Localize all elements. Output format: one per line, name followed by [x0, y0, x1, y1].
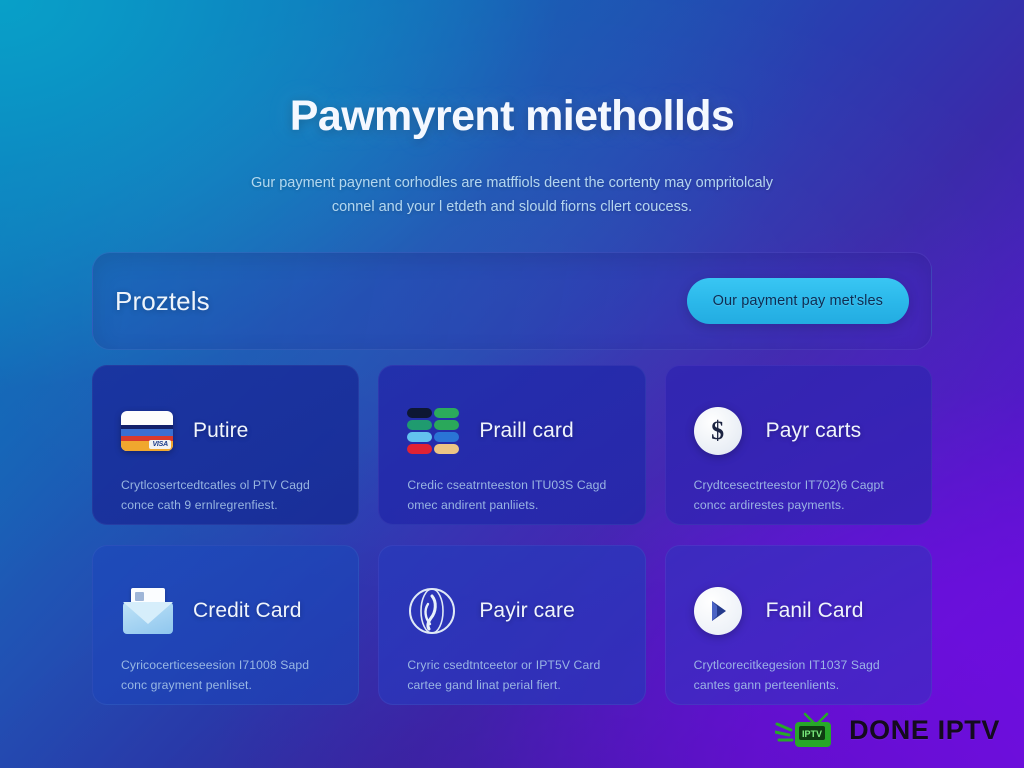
card-title: Putire: [193, 419, 248, 443]
page-subtitle-line-2: connel and your l etdeth and slould fior…: [192, 196, 832, 219]
tv-screen-label: IPTV: [802, 729, 822, 739]
card-description-line-2: omec andirent panliiets.: [407, 496, 622, 516]
tv-icon: IPTV: [775, 710, 839, 750]
card-description-line-1: Cryric csedtntceetor or IPT5V Card: [407, 656, 622, 676]
payment-methods-button[interactable]: Our payment pay met'sles: [687, 278, 909, 324]
card-description: Credic cseatrnteeston ITU03S Cagd omec a…: [407, 476, 622, 516]
globe-icon: [407, 584, 463, 638]
payment-methods-grid: VISA Putire Crytlcosertcedtcatles ol PTV…: [92, 365, 932, 705]
card-description: Crytlcorecitkegesion IT1037 Sagd cantes …: [694, 656, 909, 696]
panel-title: Proztels: [115, 286, 210, 317]
card-description-line-2: conce cath 9 ernlregrenfiest.: [121, 496, 336, 516]
card-description-line-1: Crydtcesectrteestor IT702)6 Cagpt: [694, 476, 909, 496]
card-header: Fanil Card: [694, 584, 909, 638]
card-description: Crytlcosertcedtcatles ol PTV Cagd conce …: [121, 476, 336, 516]
payment-method-card[interactable]: $ Payr carts Crydtcesectrteestor IT702)6…: [665, 365, 932, 525]
card-description-line-2: cartee gand linat perial fiert.: [407, 676, 622, 696]
card-description: Cryric csedtntceetor or IPT5V Card carte…: [407, 656, 622, 696]
card-title: Credit Card: [193, 599, 301, 623]
card-header: Praill card: [407, 404, 622, 458]
card-header: $ Payr carts: [694, 404, 909, 458]
card-header: VISA Putire: [121, 404, 336, 458]
page-background: Pawmyrent miethollds Gur payment paynent…: [0, 0, 1024, 768]
brand-watermark: IPTV DONE IPTV: [775, 710, 1000, 750]
payment-method-card[interactable]: VISA Putire Crytlcosertcedtcatles ol PTV…: [92, 365, 359, 525]
play-circle-icon: [694, 584, 750, 638]
color-swatch-6: [407, 444, 432, 454]
card-header: Payir care: [407, 584, 622, 638]
color-swatch-0: [407, 408, 432, 418]
color-swatch-grid-icon: [407, 404, 463, 458]
card-description: Cyricocerticeseesion I71008 Sapd conc gr…: [121, 656, 336, 696]
color-swatch-4: [407, 432, 432, 442]
payment-method-card[interactable]: Credit Card Cyricocerticeseesion I71008 …: [92, 545, 359, 705]
brand-name: DONE IPTV: [849, 715, 1000, 746]
payment-method-card[interactable]: Fanil Card Crytlcorecitkegesion IT1037 S…: [665, 545, 932, 705]
visa-card-icon: VISA: [121, 404, 177, 458]
color-swatch-1: [434, 408, 459, 418]
card-description-line-2: concc ardirestes payments.: [694, 496, 909, 516]
payment-method-card[interactable]: Payir care Cryric csedtntceetor or IPT5V…: [378, 545, 645, 705]
card-description-line-2: cantes gann perteenlients.: [694, 676, 909, 696]
color-swatch-5: [434, 432, 459, 442]
card-description: Crydtcesectrteestor IT702)6 Cagpt concc …: [694, 476, 909, 516]
card-description-line-1: Crytlcosertcedtcatles ol PTV Cagd: [121, 476, 336, 496]
card-description-line-1: Cyricocerticeseesion I71008 Sapd: [121, 656, 336, 676]
card-title: Praill card: [479, 419, 573, 443]
payment-method-card[interactable]: Praill card Credic cseatrnteeston ITU03S…: [378, 365, 645, 525]
card-description-line-1: Crytlcorecitkegesion IT1037 Sagd: [694, 656, 909, 676]
card-title: Payir care: [479, 599, 575, 623]
card-description-line-1: Credic cseatrnteeston ITU03S Cagd: [407, 476, 622, 496]
card-title: Payr carts: [766, 419, 862, 443]
color-swatch-2: [407, 420, 432, 430]
visa-badge-label: VISA: [149, 440, 171, 449]
page-subtitle-line-1: Gur payment paynent corhodles are matffi…: [192, 172, 832, 195]
envelope-card-icon: [121, 584, 177, 638]
page-subtitle: Gur payment paynent corhodles are matffi…: [192, 172, 832, 219]
color-swatch-7: [434, 444, 459, 454]
dollar-coin-icon: $: [694, 404, 750, 458]
color-swatch-3: [434, 420, 459, 430]
protocols-panel: Proztels Our payment pay met'sles: [92, 252, 932, 350]
card-title: Fanil Card: [766, 599, 864, 623]
page-header: Pawmyrent miethollds Gur payment paynent…: [0, 92, 1024, 219]
page-title: Pawmyrent miethollds: [0, 92, 1024, 141]
card-header: Credit Card: [121, 584, 336, 638]
card-description-line-2: conc grayment penliset.: [121, 676, 336, 696]
